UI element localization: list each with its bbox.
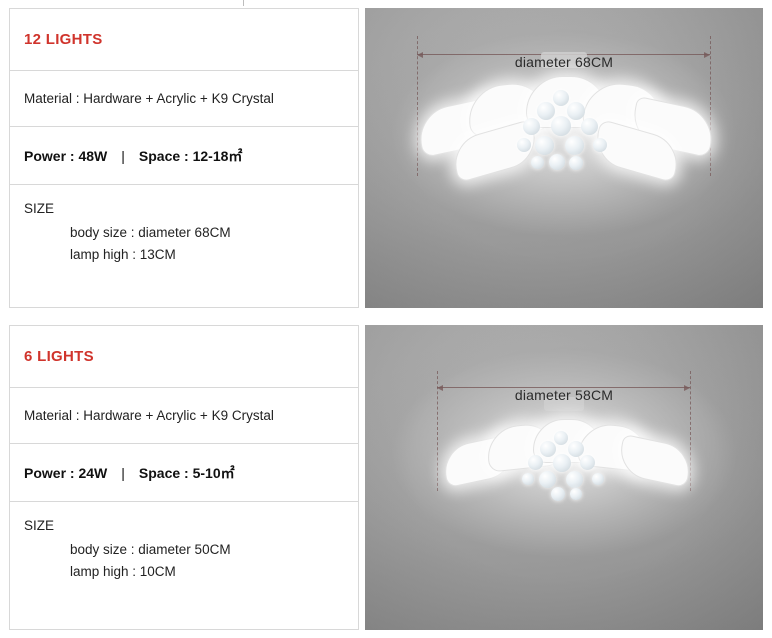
dimension-label: diameter 68CM [515,54,613,70]
spec-row-title: 6 LIGHTS [10,326,358,388]
spec-row-power: Power : 48W | Space : 12-18㎡ [10,127,358,185]
size-lamp-high: lamp high : 13CM [24,244,344,266]
size-heading: SIZE [24,201,344,216]
product-title: 12 LIGHTS [24,31,103,48]
spec-row-title: 12 LIGHTS [10,9,358,71]
top-tick-mark [243,0,244,6]
space-label: Space : 12-18㎡ [139,146,243,166]
power-label: Power : 24W [24,465,107,481]
material-label: Material : Hardware + Acrylic + K9 Cryst… [24,408,274,423]
spec-panel-6-lights: 6 LIGHTS Material : Hardware + Acrylic +… [9,325,359,630]
product-block-12-lights: 12 LIGHTS Material : Hardware + Acrylic … [9,8,763,308]
power-space-separator: | [121,148,125,164]
size-body-diameter: body size : diameter 68CM [24,222,344,244]
dimension-label: diameter 58CM [515,387,613,403]
size-body-diameter: body size : diameter 50CM [24,539,344,561]
photo-vignette [365,325,763,630]
product-photo-12-lights: diameter 68CM [365,8,763,308]
spec-row-size: SIZE body size : diameter 50CM lamp high… [10,502,358,629]
power-space-line: Power : 48W | Space : 12-18㎡ [24,146,242,166]
product-block-6-lights: 6 LIGHTS Material : Hardware + Acrylic +… [9,325,763,630]
spec-row-size: SIZE body size : diameter 68CM lamp high… [10,185,358,307]
size-lamp-high: lamp high : 10CM [24,561,344,583]
space-label: Space : 5-10㎡ [139,463,235,483]
spec-row-material: Material : Hardware + Acrylic + K9 Cryst… [10,71,358,127]
power-space-line: Power : 24W | Space : 5-10㎡ [24,463,235,483]
spec-row-power: Power : 24W | Space : 5-10㎡ [10,444,358,502]
spec-row-material: Material : Hardware + Acrylic + K9 Cryst… [10,388,358,444]
material-label: Material : Hardware + Acrylic + K9 Cryst… [24,91,274,106]
product-photo-6-lights: diameter 58CM [365,325,763,630]
power-label: Power : 48W [24,148,107,164]
spec-panel-12-lights: 12 LIGHTS Material : Hardware + Acrylic … [9,8,359,308]
size-heading: SIZE [24,518,344,533]
product-spec-page: 12 LIGHTS Material : Hardware + Acrylic … [0,0,772,638]
photo-vignette [365,8,763,308]
product-title: 6 LIGHTS [24,348,94,365]
power-space-separator: | [121,465,125,481]
